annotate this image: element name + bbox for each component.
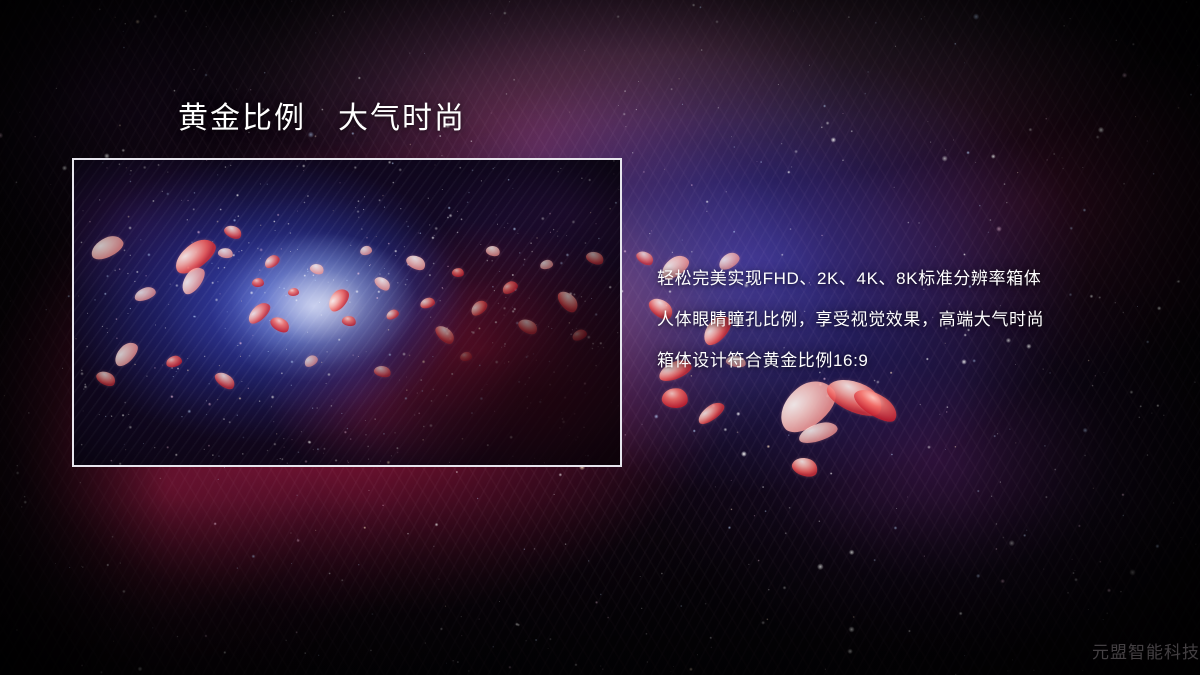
body-line: 轻松完美实现FHD、2K、4K、8K标准分辨率箱体 xyxy=(657,258,1177,299)
body-copy-block: 轻松完美实现FHD、2K、4K、8K标准分辨率箱体 人体眼睛瞳孔比例，享受视觉效… xyxy=(657,258,1177,381)
petal xyxy=(850,382,902,427)
frame-shadow-overlay xyxy=(74,160,620,465)
watermark: 元盟智能科技 xyxy=(1092,638,1200,663)
body-line: 人体眼睛瞳孔比例，享受视觉效果，高端大气时尚 xyxy=(657,299,1177,340)
presentation-slide: 黄金比例 大气时尚 轻松完美实现FHD、2K、4K、8K标准分辨率箱体 人体眼睛… xyxy=(0,0,1200,675)
body-line: 箱体设计符合黄金比例16:9 xyxy=(657,340,1177,381)
petal xyxy=(770,372,844,441)
petal xyxy=(634,248,656,268)
petal xyxy=(661,386,690,409)
petal xyxy=(695,399,728,427)
product-image-frame[interactable] xyxy=(72,158,622,467)
frame-image-content xyxy=(74,160,620,465)
page-title: 黄金比例 大气时尚 xyxy=(178,100,466,138)
petal xyxy=(796,419,839,446)
petal xyxy=(790,454,821,480)
